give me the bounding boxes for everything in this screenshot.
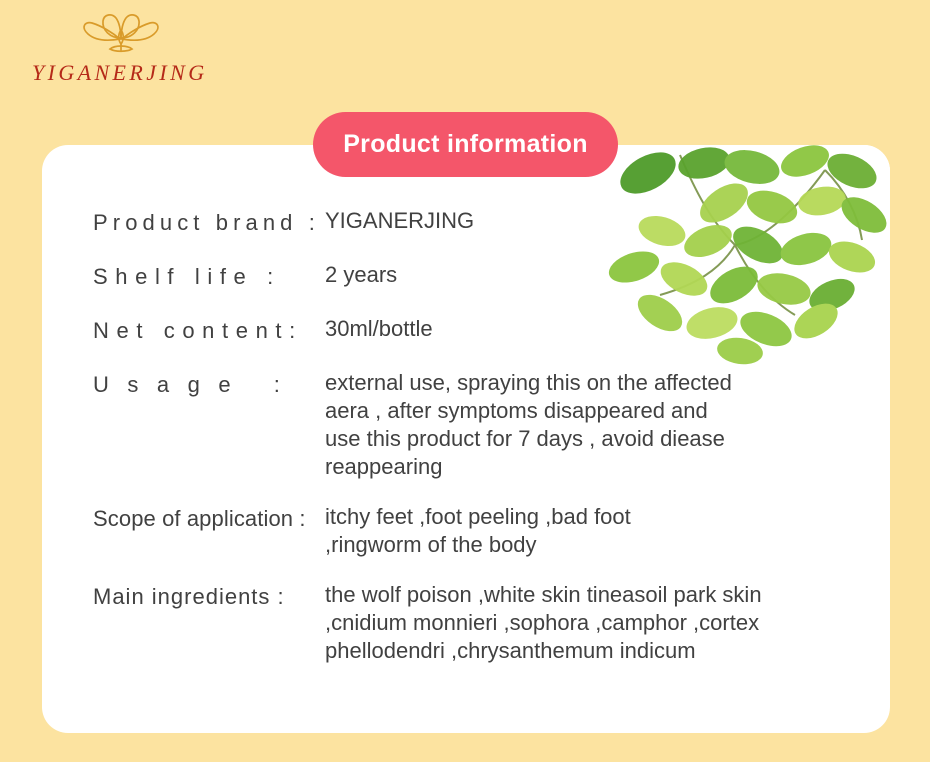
spec-label-product-brand: Product brand : — [93, 207, 325, 238]
product-information-badge: Product information — [313, 112, 618, 177]
spec-row-shelf-life: Shelf life : 2 years — [93, 261, 873, 292]
spec-label-shelf-life: Shelf life : — [93, 261, 325, 292]
spec-value-scope-of-application: itchy feet ,foot peeling ,bad foot ,ring… — [325, 503, 873, 559]
spec-value-net-content: 30ml/bottle — [325, 315, 873, 343]
spec-row-main-ingredients: Main ingredients : the wolf poison ,whit… — [93, 581, 873, 665]
spec-value-main-ingredients: the wolf poison ,white skin tineasoil pa… — [325, 581, 873, 665]
brand-logo: YIGANERJING — [18, 8, 268, 94]
spec-label-net-content: Net content: — [93, 315, 325, 346]
product-information-badge-label: Product information — [343, 130, 588, 159]
product-information-card: Product brand : YIGANERJING Shelf life :… — [42, 145, 890, 733]
spec-value-usage: external use, spraying this on the affec… — [325, 369, 873, 481]
spec-row-net-content: Net content: 30ml/bottle — [93, 315, 873, 346]
spec-label-scope-of-application: Scope of application : — [93, 503, 325, 534]
lotus-butterfly-logo-icon — [66, 8, 176, 58]
product-spec-list: Product brand : YIGANERJING Shelf life :… — [93, 207, 873, 680]
spec-value-shelf-life: 2 years — [325, 261, 873, 289]
spec-row-product-brand: Product brand : YIGANERJING — [93, 207, 873, 238]
spec-value-product-brand: YIGANERJING — [325, 207, 873, 235]
brand-name: YIGANERJING — [32, 60, 208, 86]
spec-label-usage: Usage : — [93, 369, 325, 400]
spec-row-usage: Usage : external use, spraying this on t… — [93, 369, 873, 481]
spec-label-main-ingredients: Main ingredients : — [93, 581, 325, 612]
spec-row-scope-of-application: Scope of application : itchy feet ,foot … — [93, 503, 873, 559]
